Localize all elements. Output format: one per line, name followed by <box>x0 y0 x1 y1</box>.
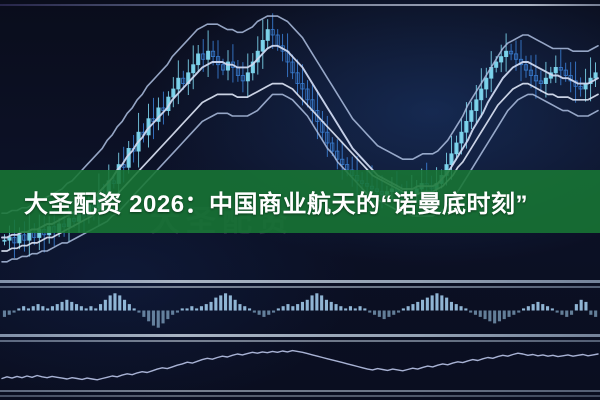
momentum-panel-top-rule <box>0 340 600 342</box>
bottom-rule <box>0 390 600 392</box>
macd-panel-top-rule <box>0 280 600 283</box>
stock-chart-image: 大圣配资 大圣配资 2026：中国商业航天的“诺曼底时刻” <box>0 0 600 400</box>
momentum-line <box>2 351 598 380</box>
bottom-rule-2 <box>0 395 600 397</box>
macd-panel-top-rule-2 <box>0 286 600 288</box>
macd-panel-bottom-rule <box>0 334 600 337</box>
banner-title-text: 大圣配资 2026：中国商业航天的“诺曼底时刻” <box>0 184 528 219</box>
title-banner: 大圣配资 2026：中国商业航天的“诺曼底时刻” <box>0 170 600 233</box>
macd-histogram-bars <box>3 293 597 327</box>
